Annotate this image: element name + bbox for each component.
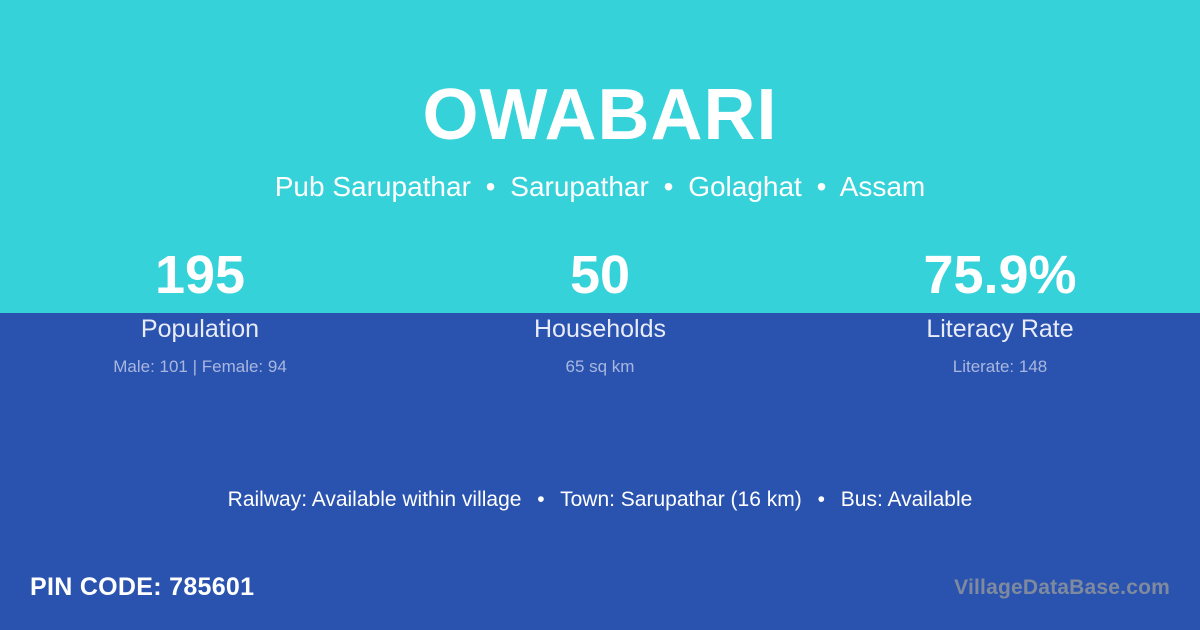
infrastructure-separator: • xyxy=(808,488,835,511)
breadcrumb-item-1: Sarupathar xyxy=(510,171,649,202)
breadcrumb-separator: • xyxy=(657,171,681,202)
stat-sublabel: Male: 101 | Female: 94 xyxy=(113,357,287,377)
village-info-card: OWABARI Pub Sarupathar • Sarupathar • Go… xyxy=(0,0,1200,630)
breadcrumb: Pub Sarupathar • Sarupathar • Golaghat •… xyxy=(275,170,925,204)
stat-label: Households xyxy=(534,314,666,344)
infrastructure-item-town: Town: Sarupathar (16 km) xyxy=(560,488,802,511)
stat-literacy-rate: 75.9% Literacy Rate Literate: 148 xyxy=(800,240,1200,377)
breadcrumb-separator: • xyxy=(810,171,834,202)
stat-label: Literacy Rate xyxy=(926,314,1073,344)
page-title: OWABARI xyxy=(423,78,778,154)
stat-households: 50 Households 65 sq km xyxy=(400,240,800,377)
breadcrumb-separator: • xyxy=(479,171,503,202)
infrastructure-line: Railway: Available within village • Town… xyxy=(0,486,1200,513)
card-header: OWABARI Pub Sarupathar • Sarupathar • Go… xyxy=(0,0,1200,230)
breadcrumb-item-0: Pub Sarupathar xyxy=(275,171,471,202)
stats-row: 195 Population Male: 101 | Female: 94 50… xyxy=(0,240,1200,377)
stat-value: 75.9% xyxy=(923,240,1076,311)
site-brand: VillageDataBase.com xyxy=(954,576,1170,600)
stat-value: 50 xyxy=(570,240,630,311)
card-footer: PIN CODE: 785601 VillageDataBase.com xyxy=(0,555,1200,630)
pin-code: PIN CODE: 785601 xyxy=(30,573,254,602)
stat-label: Population xyxy=(141,314,259,344)
infrastructure-item-bus: Bus: Available xyxy=(841,488,973,511)
stat-value: 195 xyxy=(155,240,245,311)
infrastructure-separator: • xyxy=(527,488,554,511)
stat-sublabel: Literate: 148 xyxy=(953,357,1048,377)
breadcrumb-item-3: Assam xyxy=(840,171,926,202)
stat-sublabel: 65 sq km xyxy=(566,357,635,377)
stat-population: 195 Population Male: 101 | Female: 94 xyxy=(0,240,400,377)
infrastructure-item-railway: Railway: Available within village xyxy=(228,488,522,511)
breadcrumb-item-2: Golaghat xyxy=(688,171,802,202)
